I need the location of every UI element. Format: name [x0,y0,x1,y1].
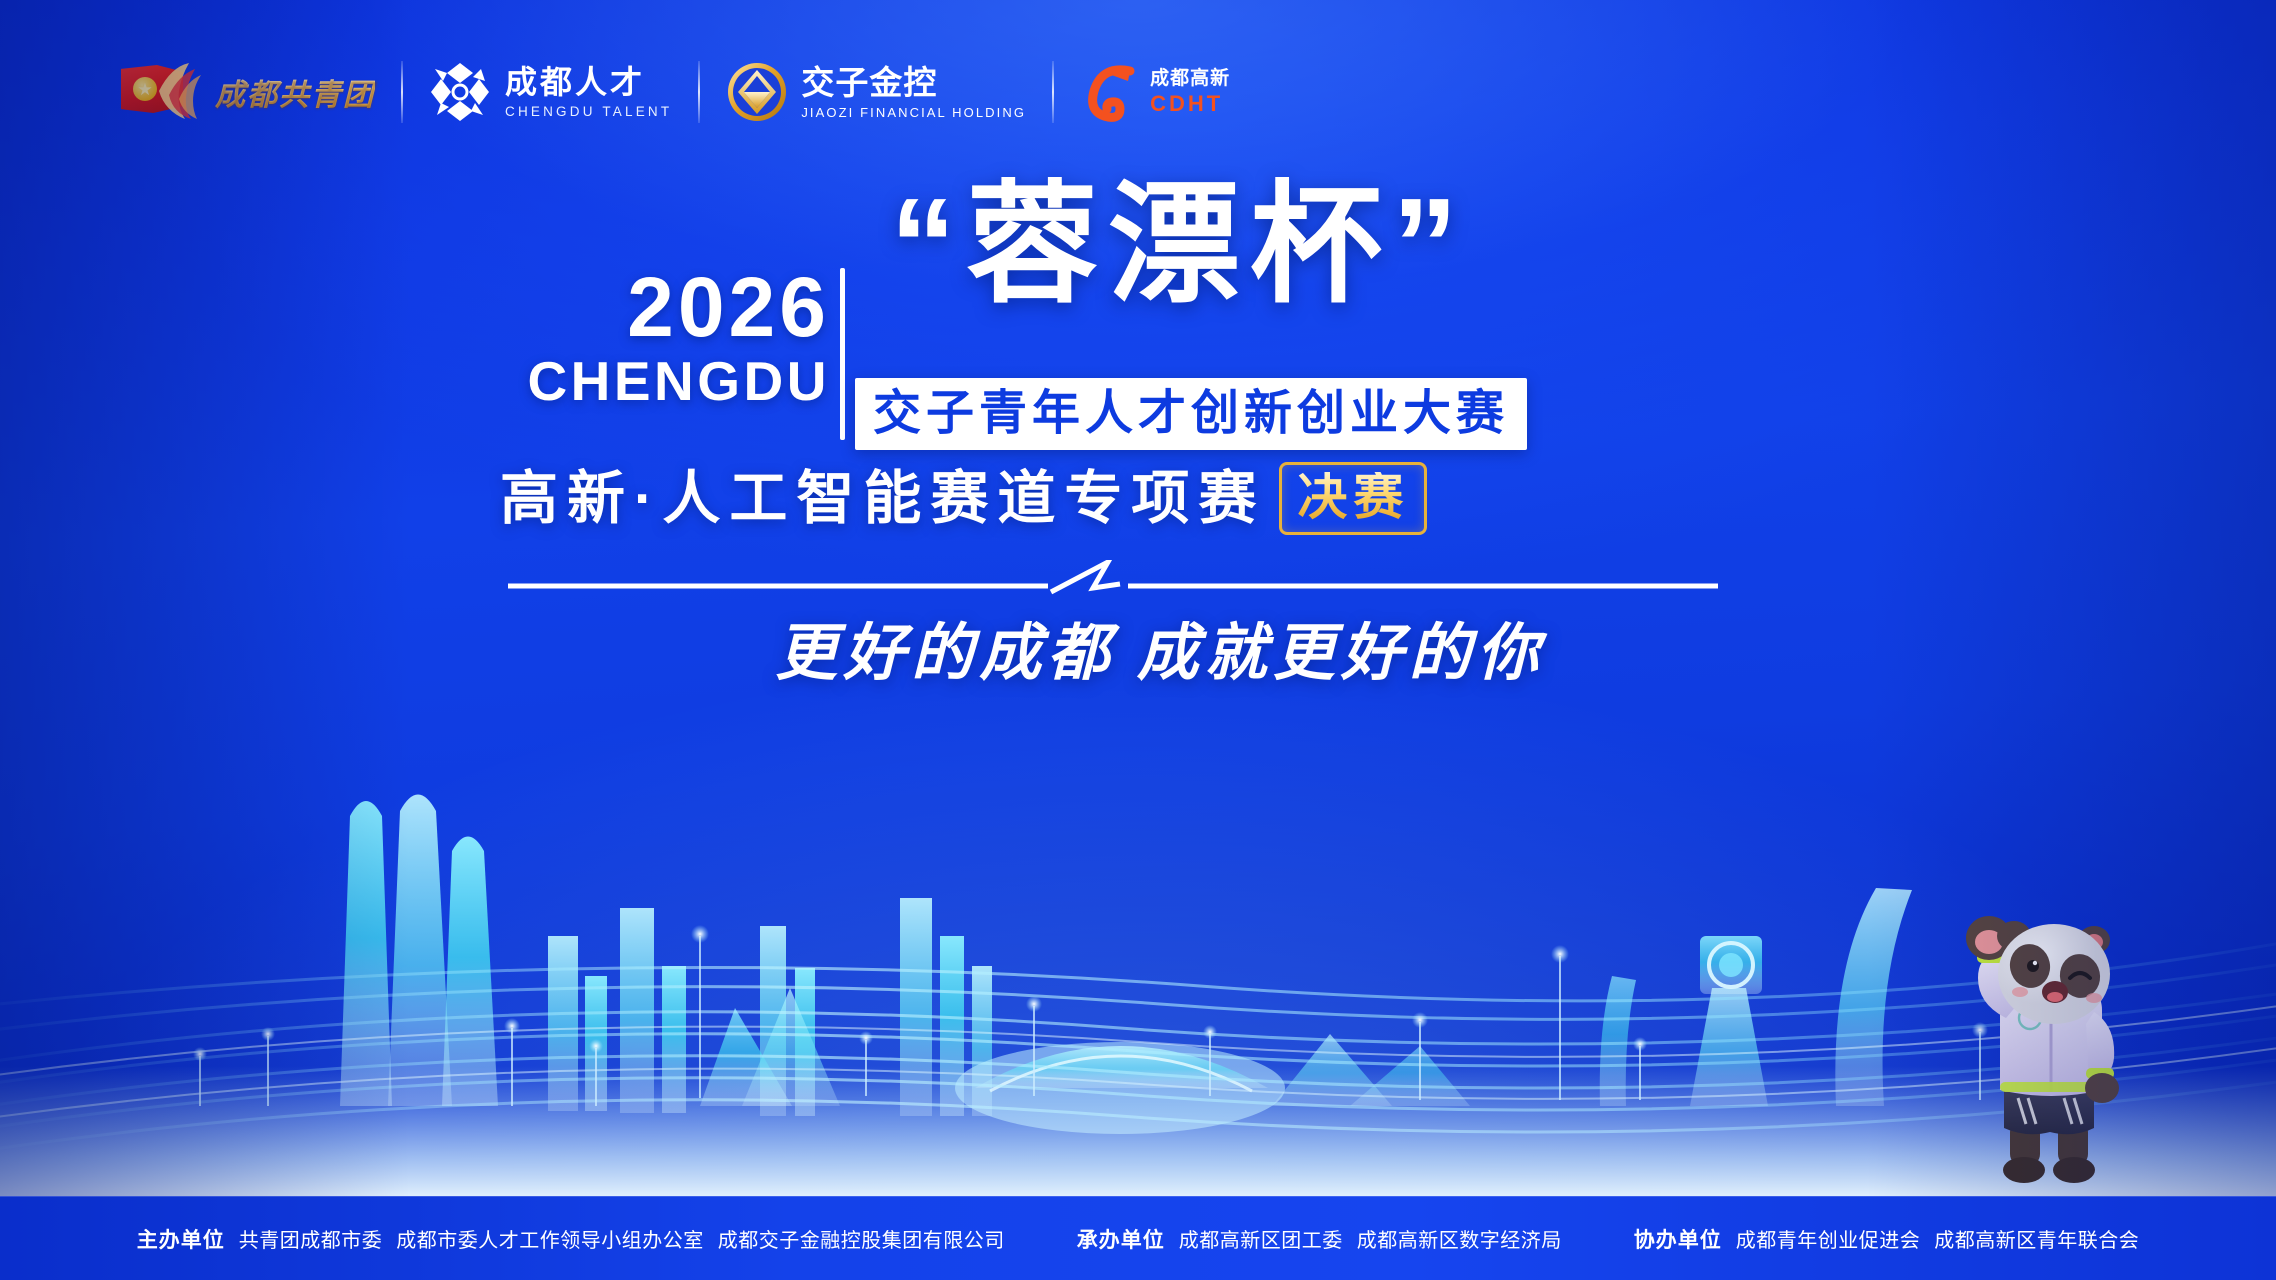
footer-item: 成都交子金融控股集团有限公司 [718,1224,1005,1253]
footer-item: 共青团成都市委 [239,1224,383,1253]
decorative-rule [508,560,1718,600]
track-subtitle: 高新·人工智能赛道专项赛 [500,470,1265,528]
event-year: 2026 [500,268,830,348]
red-flag-with-star-icon: ★ [121,61,205,123]
organizer-footer-bar: 主办单位 共青团成都市委 成都市委人才工作领导小组办公室 成都交子金融控股集团有… [0,1196,2276,1280]
logo-jiaozi-label-en: JIAOZI FINANCIAL HOLDING [801,106,1026,119]
gold-diamond-coin-icon [726,61,788,123]
title-vertical-divider [840,268,845,440]
city-name-en: CHENGDU [500,354,830,409]
footer-item: 成都高新区青年联合会 [1934,1224,2139,1253]
footer-group-host: 主办单位 共青团成都市委 成都市委人才工作领导小组办公室 成都交子金融控股集团有… [137,1224,1005,1254]
footer-item: 成都市委人才工作领导小组办公室 [396,1224,704,1253]
stage-badge-label: 决赛 [1297,472,1409,522]
competition-name: 交子青年人才创新创业大赛 [873,390,1509,438]
cup-name-wrap: “蓉漂杯” [890,172,1770,317]
footer-item: 成都高新区数字经济局 [1357,1224,1562,1253]
logo-cdht[interactable]: 成都高新 CDHT [1054,54,1256,130]
footer-label-coorganizer: 协办单位 [1634,1224,1722,1254]
stage-badge: 决赛 [1279,462,1427,535]
footer-item: 成都青年创业促进会 [1736,1224,1921,1253]
logo-jiaozi-label-cn: 交子金控 [801,66,1026,99]
footer-item: 成都高新区团工委 [1179,1224,1343,1253]
logo-chengdu-cyl[interactable]: ★ 成都共青团 [95,54,401,130]
logo-cdht-label-en: CDHT [1150,93,1223,115]
footer-group-coorganizer: 协办单位 成都青年创业促进会 成都高新区青年联合会 [1634,1224,2140,1254]
title-row-primary: 2026 CHENGDU “蓉漂杯” 交子青年人才创新创业大赛 [500,250,1780,465]
logo-cyl-label: 成都共青团 [215,70,375,114]
logo-jiaozi-financial-holding[interactable]: 交子金控 JIAOZI FINANCIAL HOLDING [700,54,1052,130]
year-city-stack: 2026 CHENGDU [500,268,830,409]
footer-label-organizer: 承办单位 [1077,1224,1165,1254]
orange-swoosh-icon [1080,61,1142,123]
cup-name: “蓉漂杯” [890,172,1770,317]
poster-canvas: ★ 成都共青团 [0,0,2276,1280]
logo-talent-label-en: CHENGDU TALENT [505,105,672,119]
main-title-block: 2026 CHENGDU “蓉漂杯” 交子青年人才创新创业大赛 高新·人工智能赛… [500,250,1780,465]
competition-name-banner: 交子青年人才创新创业大赛 [855,378,1527,450]
slogan-text: 更好的成都 成就更好的你 [660,602,1660,692]
footer-group-organizer: 承办单位 成都高新区团工委 成都高新区数字经济局 [1077,1224,1562,1254]
slogan-wrap: 更好的成都 成就更好的你 [660,602,1660,692]
logo-chengdu-talent[interactable]: 成都人才 CHENGDU TALENT [403,54,698,130]
logo-cdht-label-cn: 成都高新 [1150,69,1230,88]
sponsor-logo-bar: ★ 成都共青团 [95,48,1256,136]
title-row-subtitle: 高新·人工智能赛道专项赛 决赛 [500,462,1427,535]
footer-label-host: 主办单位 [137,1224,225,1254]
logo-talent-label-cn: 成都人才 [505,66,672,98]
panda-mascot [1934,892,2164,1192]
pinwheel-star-icon [429,61,491,123]
